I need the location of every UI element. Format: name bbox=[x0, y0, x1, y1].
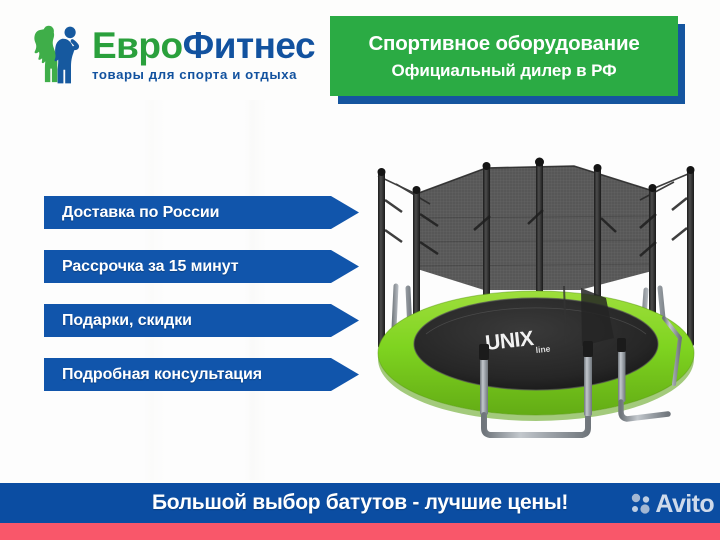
feature-label: Доставка по России bbox=[44, 204, 219, 222]
athletes-figures-icon bbox=[24, 24, 86, 84]
svg-text:line: line bbox=[535, 343, 551, 355]
avito-watermark: Avito bbox=[630, 486, 714, 522]
safety-net bbox=[414, 166, 656, 290]
advertisement-banner: ЕвроФитнес товары для спорта и отдыха Сп… bbox=[0, 0, 720, 540]
feature-label: Подробная консультация bbox=[44, 366, 262, 384]
brand-name-fitnes: Фитнес bbox=[183, 25, 315, 66]
feature-label: Рассрочка за 15 минут bbox=[44, 258, 238, 276]
avito-dots-icon bbox=[630, 493, 652, 515]
product-photo-trampoline[interactable]: UNIX line bbox=[368, 138, 704, 470]
footer-red-strip bbox=[0, 523, 720, 540]
footer-banner: Большой выбор батутов - лучшие цены! bbox=[0, 483, 720, 523]
headline-primary: Спортивное оборудование bbox=[368, 32, 639, 56]
feature-item-delivery[interactable]: Доставка по России bbox=[44, 196, 359, 229]
feature-item-installment[interactable]: Рассрочка за 15 минут bbox=[44, 250, 359, 283]
feature-item-gifts[interactable]: Подарки, скидки bbox=[44, 304, 359, 337]
brand-wordmark: ЕвроФитнес товары для спорта и отдыха bbox=[92, 27, 315, 81]
feature-item-consultation[interactable]: Подробная консультация bbox=[44, 358, 359, 391]
feature-label: Подарки, скидки bbox=[44, 312, 192, 330]
footer-banner-text: Большой выбор батутов - лучшие цены! bbox=[152, 491, 568, 515]
brand-name-euro: Евро bbox=[92, 25, 183, 66]
headline-banner: Спортивное оборудование Официальный диле… bbox=[330, 16, 685, 104]
brand-logo[interactable]: ЕвроФитнес товары для спорта и отдыха bbox=[24, 18, 324, 90]
headline-secondary: Официальный дилер в РФ bbox=[391, 61, 616, 81]
avito-wordmark: Avito bbox=[655, 492, 714, 517]
feature-list: Доставка по России Рассрочка за 15 минут… bbox=[44, 196, 364, 412]
headline-banner-body: Спортивное оборудование Официальный диле… bbox=[330, 16, 678, 96]
brand-tagline: товары для спорта и отдыха bbox=[92, 68, 315, 81]
